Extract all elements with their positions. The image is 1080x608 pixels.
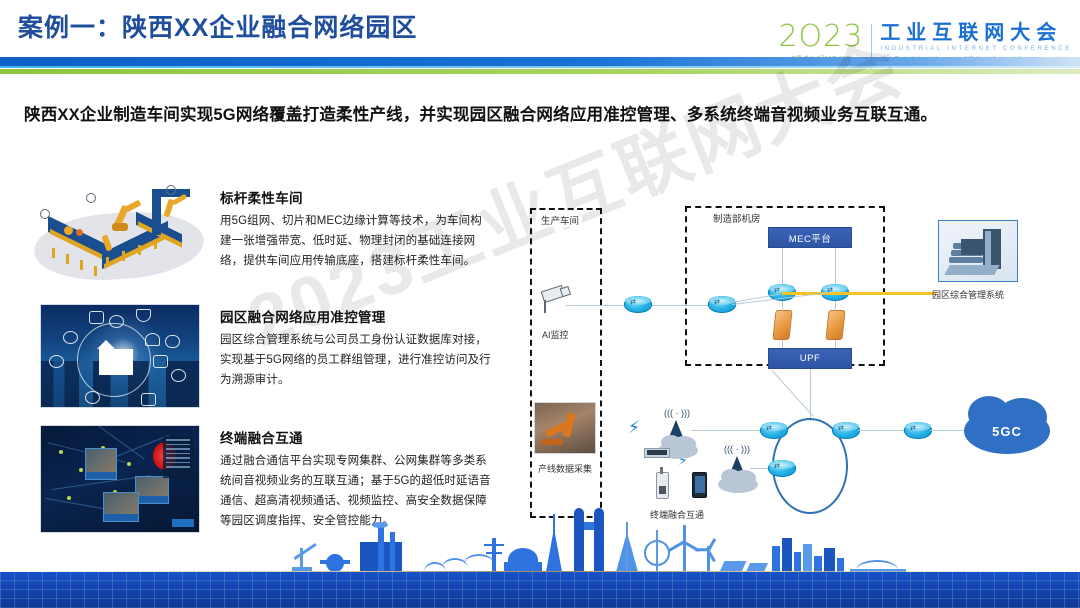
core-network-label: 5GC bbox=[992, 424, 1022, 439]
skyline-gate-tower-right bbox=[594, 508, 604, 572]
park-management-system-image bbox=[938, 220, 1018, 282]
list-item: 园区融合网络应用准控管理 园区综合管理系统与公司员工身份认证数据库对接，实现基于… bbox=[26, 304, 521, 416]
feature-text-3: 终端融合互通 通过融合通信平台实现专网集群、公网集群等多类系统间音视频业务的互联… bbox=[214, 425, 492, 537]
node-label-mgmt-system: 园区综合管理系统 bbox=[932, 288, 1004, 301]
logo-english-title: INDUSTRIAL INTERNET CONFERENCE bbox=[880, 46, 1072, 52]
list-item: 标杆柔性车间 用5G组网、切片和MEC边缘计算等技术，为车间构建一张增强带宽、低… bbox=[26, 185, 521, 295]
lightning-icon: ⚡ bbox=[628, 418, 640, 438]
feature-text-2: 园区融合网络应用准控管理 园区综合管理系统与公司员工身份认证数据库对接，实现基于… bbox=[214, 304, 492, 416]
antenna-signal-icon: ((( · ))) bbox=[724, 444, 750, 454]
zone-label-production-workshop: 生产车间 bbox=[538, 213, 582, 227]
node-label-terminal: 终端融合互通 bbox=[650, 508, 704, 521]
skyline-building bbox=[772, 546, 780, 572]
router-icon: ⇄ bbox=[760, 422, 788, 439]
node-label-ai-monitor: AI监控 bbox=[542, 328, 569, 341]
logo-year: 2O23 bbox=[778, 22, 863, 52]
router-icon: ⇄ bbox=[904, 422, 932, 439]
feature-description: 园区综合管理系统与公司员工身份认证数据库对接，实现基于5G网络的员工群组管理，进… bbox=[220, 330, 492, 390]
feature-title: 标杆柔性车间 bbox=[220, 187, 492, 207]
skyline-gear-axle bbox=[320, 560, 350, 564]
router-icon: ⇄ bbox=[768, 460, 796, 477]
footer-grid-band bbox=[0, 572, 1080, 608]
router-icon: ⇄ bbox=[624, 296, 652, 313]
link-router-to-fw1 bbox=[782, 301, 783, 311]
feature-title: 园区融合网络应用准控管理 bbox=[220, 306, 492, 326]
link-ring-to-egress bbox=[858, 430, 906, 431]
link-egress-to-5gc bbox=[930, 430, 966, 431]
header-rule-cyan bbox=[0, 66, 1080, 68]
slide-header: 案例一：陕西XX企业融合网络园区 2O23 中国·苏州 8月14日-16日 工业… bbox=[0, 0, 1080, 62]
firewall-icon bbox=[772, 310, 792, 340]
monitoring-dashboard-photo bbox=[40, 425, 200, 533]
header-rule-blue bbox=[0, 57, 1080, 66]
camera-stand-icon bbox=[544, 300, 546, 313]
link-router-to-fw2 bbox=[835, 301, 836, 311]
router-icon: ⇄ bbox=[832, 422, 860, 439]
skyline-building bbox=[824, 548, 835, 572]
firewall-icon bbox=[825, 310, 845, 340]
feature-description: 通过融合通信平台实现专网集群、公网集群等多类系统间音视频业务的互联互通；基于5G… bbox=[220, 451, 492, 531]
production-line-photo bbox=[534, 402, 596, 454]
skyline-gate-tower-left bbox=[574, 508, 584, 572]
core-network-cloud: 5GC bbox=[964, 408, 1050, 454]
list-item: 终端融合互通 通过融合通信平台实现专网集群、公网集群等多类系统间音视频业务的互联… bbox=[26, 425, 521, 537]
header-rule-green bbox=[0, 69, 1080, 74]
skyline-building bbox=[782, 538, 792, 572]
logo-year-block: 2O23 中国·苏州 8月14日-16日 bbox=[778, 22, 871, 62]
skyline-pagoda-roof bbox=[484, 544, 504, 547]
zone-label-server-room: 制造部机房 bbox=[710, 211, 764, 225]
antenna-signal-icon: ((( · ))) bbox=[664, 408, 690, 418]
link-mec-to-router1 bbox=[782, 248, 783, 288]
link-tower1-to-ring bbox=[692, 430, 770, 431]
feature-list: 标杆柔性车间 用5G组网、切片和MEC边缘计算等技术，为车间构建一张增强带宽、低… bbox=[26, 185, 521, 546]
feature-text-1: 标杆柔性车间 用5G组网、切片和MEC边缘计算等技术，为车间构建一张增强带宽、低… bbox=[214, 185, 492, 295]
skyline-building bbox=[794, 552, 801, 572]
node-label-line-data: 产线数据采集 bbox=[530, 462, 600, 475]
walkie-talkie-icon bbox=[656, 472, 669, 499]
skyline-pagoda-roof bbox=[486, 552, 502, 555]
skyline-chimney bbox=[390, 532, 395, 572]
skyline-spire-mast bbox=[553, 514, 555, 572]
cloud-icon bbox=[718, 476, 758, 493]
smart-city-iot-photo bbox=[40, 304, 200, 408]
feature-description: 用5G组网、切片和MEC边缘计算等技术，为车间构建一张增强带宽、低时延、物理封闭… bbox=[220, 211, 492, 271]
feature-title: 终端融合互通 bbox=[220, 427, 492, 447]
skyline-chimney bbox=[378, 526, 384, 572]
slide: 案例一：陕西XX企业融合网络园区 2O23 中国·苏州 8月14日-16日 工业… bbox=[0, 0, 1080, 608]
skyline-smoke bbox=[372, 522, 388, 528]
link-upf-diagonal bbox=[772, 370, 814, 417]
skyline-building bbox=[803, 544, 812, 572]
skyline-ferris-support bbox=[656, 530, 658, 572]
upf-node: UPF bbox=[768, 348, 852, 369]
logo-main-title: 工业互联网大会 bbox=[880, 22, 1072, 44]
smart-factory-illustration bbox=[26, 185, 214, 291]
link-mec-to-router2 bbox=[835, 248, 836, 288]
skyline-gate-link bbox=[584, 522, 594, 530]
headline-text: 陕西XX企业制造车间实现5G网络覆盖打造柔性产线，并实现园区融合网络应用准控管理… bbox=[24, 98, 1060, 133]
laptop-icon bbox=[644, 448, 670, 458]
page-title: 案例一：陕西XX企业融合网络园区 bbox=[18, 8, 417, 44]
mec-platform-node: MEC平台 bbox=[768, 227, 852, 248]
network-diagram: 生产车间 制造部机房 AI监控 产线数据采集 ⇄ ⇄ MEC平台 bbox=[520, 180, 1080, 540]
mobile-phone-icon bbox=[692, 472, 707, 498]
skyline-windmill bbox=[676, 536, 692, 572]
skyline-windmill bbox=[700, 544, 714, 572]
footer-skyline bbox=[0, 536, 1080, 608]
skyline-tower-mast bbox=[626, 522, 628, 572]
